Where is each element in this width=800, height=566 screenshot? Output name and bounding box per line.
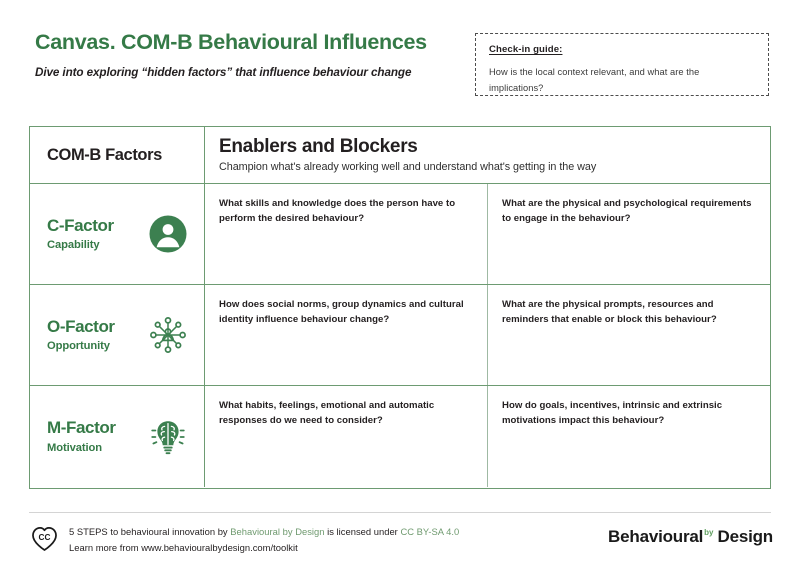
footer-divider <box>29 512 771 513</box>
prompt-cell-right[interactable]: What are the physical and psychological … <box>488 184 770 284</box>
comb-factors-label: COM-B Factors <box>30 146 162 165</box>
brand-word-2: Design <box>718 527 773 546</box>
enablers-cells: How does social norms, group dynamics an… <box>205 285 770 385</box>
prompt-cell-left[interactable]: What habits, feelings, emotional and aut… <box>205 386 488 487</box>
enablers-cells: What habits, feelings, emotional and aut… <box>205 386 770 487</box>
page-header: Canvas. COM-B Behavioural Influences Div… <box>35 30 455 79</box>
factor-subtitle: Capability <box>47 239 138 251</box>
footer-license-link[interactable]: CC BY-SA 4.0 <box>400 526 459 537</box>
factor-cell-capability: C-Factor Capability <box>30 184 205 284</box>
factor-subtitle: Motivation <box>47 442 138 454</box>
table-header-row: COM-B Factors Enablers and Blockers Cham… <box>30 127 770 184</box>
prompt-cell-right[interactable]: What are the physical prompts, resources… <box>488 285 770 385</box>
enablers-subtitle: Champion what's already working well and… <box>219 161 770 173</box>
person-circle-icon <box>148 214 188 254</box>
page-title: Canvas. COM-B Behavioural Influences <box>35 30 455 55</box>
footer-line1-part1: 5 STEPS to behavioural innovation by <box>69 526 230 537</box>
footer-line1-part2: is licensed under <box>325 526 401 537</box>
check-in-guide-box: Check-in guide: How is the local context… <box>475 33 769 96</box>
factor-name: M-Factor <box>47 419 138 438</box>
footer-text: 5 STEPS to behavioural innovation by Beh… <box>69 524 459 555</box>
canvas-page: Canvas. COM-B Behavioural Influences Div… <box>0 0 800 566</box>
brand-word-1: Behavioural <box>608 527 703 546</box>
brand-logo: BehaviouralbyDesign <box>608 527 773 547</box>
network-hub-icon <box>148 315 188 355</box>
table-row: M-Factor Motivation <box>30 386 770 487</box>
enablers-title: Enablers and Blockers <box>219 137 770 158</box>
check-in-guide-title: Check-in guide: <box>489 44 755 55</box>
factor-name: O-Factor <box>47 318 138 337</box>
brand-by: by <box>704 528 713 537</box>
table-row: C-Factor Capability What skills and know… <box>30 184 770 285</box>
footer-line-1: 5 STEPS to behavioural innovation by Beh… <box>69 524 459 540</box>
factor-cell-opportunity: O-Factor Opportunity <box>30 285 205 385</box>
prompt-cell-right[interactable]: How do goals, incentives, intrinsic and … <box>488 386 770 487</box>
check-in-guide-body: How is the local context relevant, and w… <box>489 64 755 97</box>
footer-brand-link[interactable]: Behavioural by Design <box>230 526 324 537</box>
prompt-cell-left[interactable]: How does social norms, group dynamics an… <box>205 285 488 385</box>
header-cell-factors: COM-B Factors <box>30 127 205 183</box>
header-cell-enablers: Enablers and Blockers Champion what's al… <box>205 127 770 183</box>
footer-line-2[interactable]: Learn more from www.behaviouralbydesign.… <box>69 540 459 556</box>
factor-subtitle: Opportunity <box>47 340 138 352</box>
factor-cell-motivation: M-Factor Motivation <box>30 386 205 487</box>
creative-commons-heart-icon: CC <box>31 525 58 552</box>
table-row: O-Factor Opportunity <box>30 285 770 386</box>
factor-name: C-Factor <box>47 217 138 236</box>
page-subtitle: Dive into exploring “hidden factors” tha… <box>35 66 455 79</box>
svg-text:CC: CC <box>39 533 51 542</box>
brain-lightbulb-icon <box>148 417 188 457</box>
comb-table: COM-B Factors Enablers and Blockers Cham… <box>29 126 771 489</box>
prompt-cell-left[interactable]: What skills and knowledge does the perso… <box>205 184 488 284</box>
enablers-cells: What skills and knowledge does the perso… <box>205 184 770 284</box>
footer: CC 5 STEPS to behavioural innovation by … <box>31 524 459 555</box>
